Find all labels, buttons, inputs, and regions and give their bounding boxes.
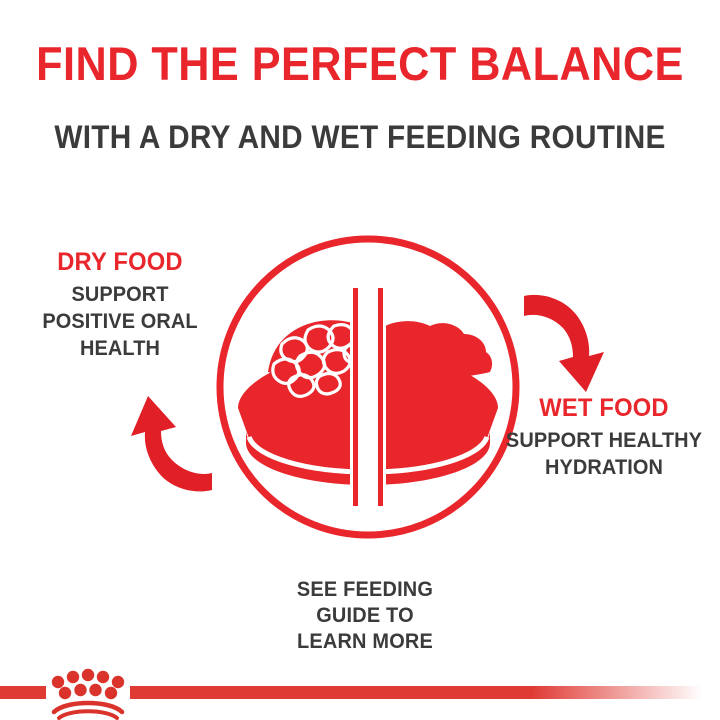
callout-dry-title: DRY FOOD <box>16 248 225 277</box>
royal-canin-crown-logo <box>46 666 130 720</box>
circle-ring <box>220 239 516 535</box>
cta-line-3: LEARN MORE <box>251 629 479 655</box>
cta-line-1: SEE FEEDING <box>251 577 479 603</box>
divider-gap <box>350 288 386 506</box>
brand-footer-bar <box>0 686 720 720</box>
callout-wet-body-line-2: HYDRATION <box>498 454 711 481</box>
callout-wet-body-line-1: SUPPORT HEALTHY <box>498 427 711 454</box>
callout-dry-body-line-3: HEALTH <box>16 335 225 362</box>
cta-line-2: GUIDE TO <box>251 603 479 629</box>
kibble-dry-food <box>268 320 364 396</box>
page-title: FIND THE PERFECT BALANCE <box>29 38 691 90</box>
callout-dry-body: SUPPORT POSITIVE ORAL HEALTH <box>16 281 225 362</box>
callout-wet-body: SUPPORT HEALTHY HYDRATION <box>498 427 711 481</box>
callout-dry-body-line-1: SUPPORT <box>16 281 225 308</box>
callout-wet-title: WET FOOD <box>498 394 711 423</box>
curved-arrow-up-left <box>131 396 212 491</box>
cta-text: SEE FEEDING GUIDE TO LEARN MORE <box>251 577 479 655</box>
divider-line-left <box>353 288 358 506</box>
footer-bar-right-segment <box>130 686 720 699</box>
curved-arrow-down-right <box>524 295 604 392</box>
footer-bar-left-segment <box>0 686 46 699</box>
callout-dry-food: DRY FOOD SUPPORT POSITIVE ORAL HEALTH <box>10 248 230 362</box>
divider-line-right <box>378 288 383 506</box>
callout-wet-food: WET FOOD SUPPORT HEALTHY HYDRATION <box>492 394 716 481</box>
dog-bowl-icon <box>238 288 498 506</box>
infographic-page: FIND THE PERFECT BALANCE WITH A DRY AND … <box>0 0 720 720</box>
page-subtitle: WITH A DRY AND WET FEEDING ROUTINE <box>25 118 695 156</box>
wet-food-pate <box>378 321 492 378</box>
callout-dry-body-line-2: POSITIVE ORAL <box>16 308 225 335</box>
